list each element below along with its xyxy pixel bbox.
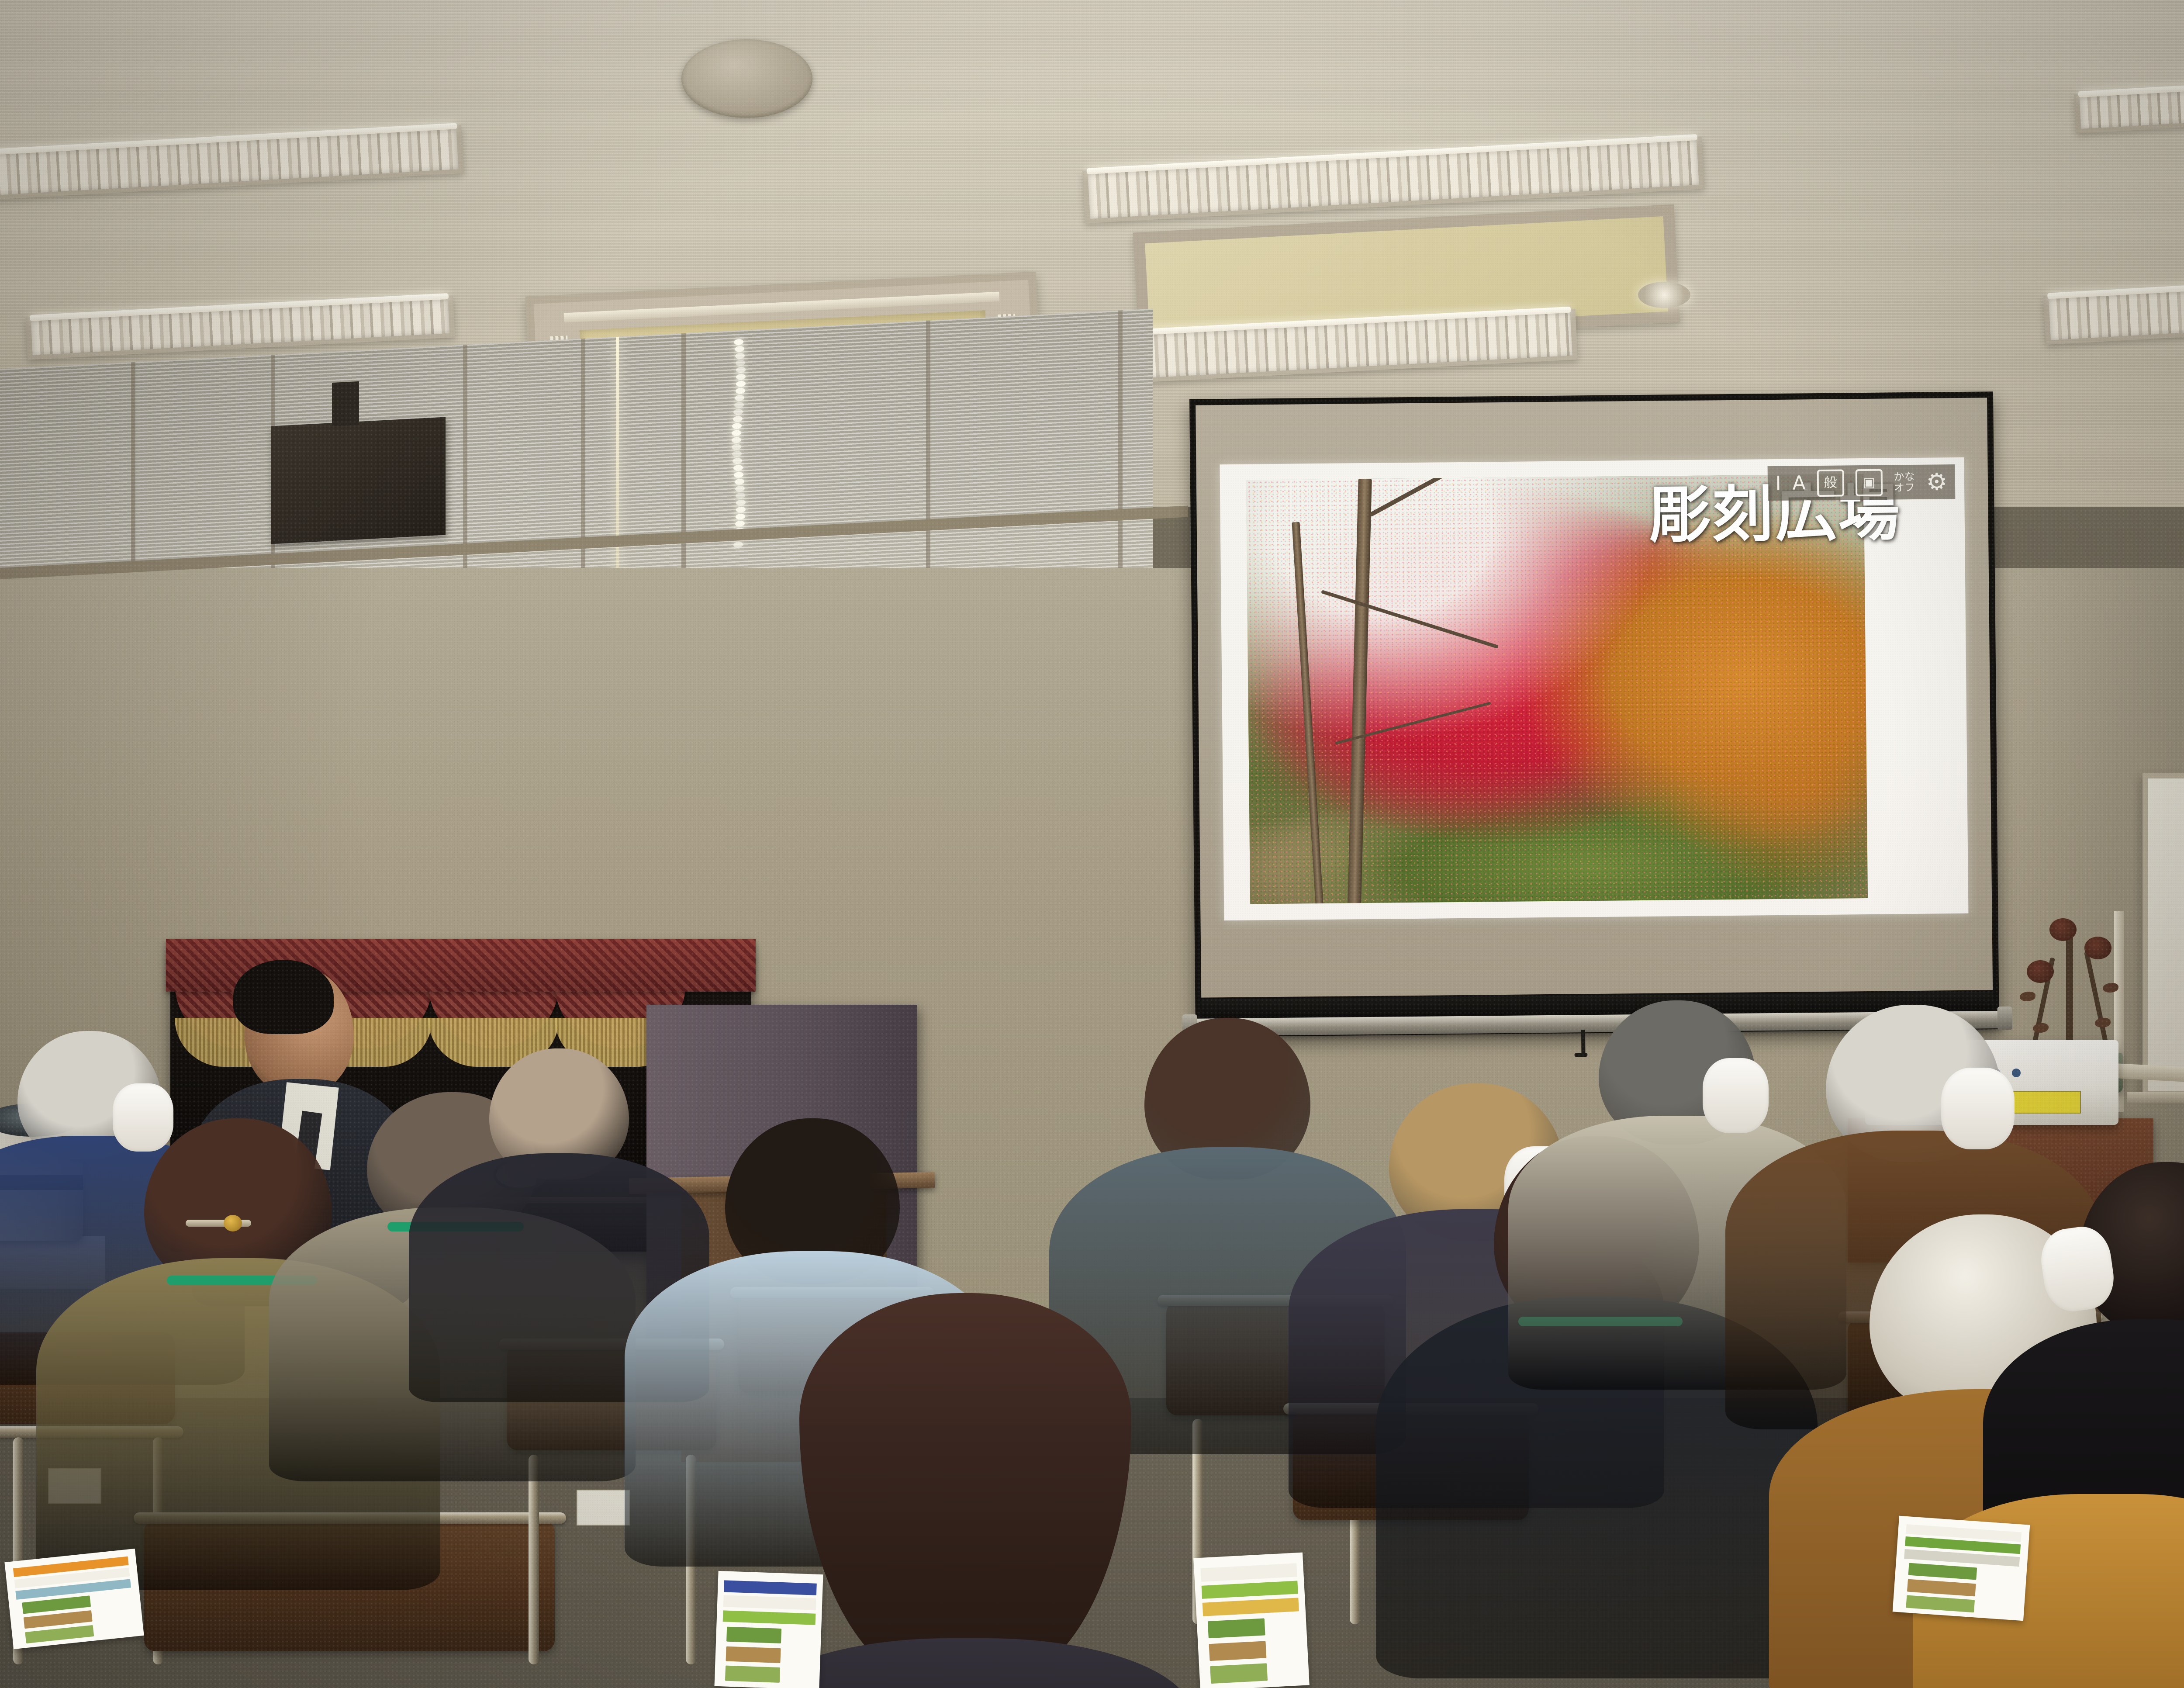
kana-toggle-line2: オフ [1894,481,1915,494]
screen-pull-hook[interactable] [1581,1030,1586,1057]
window-light-leak [616,337,619,595]
lecture-hall-photo: 彫刻広場 I A 般 ▣ かな オフ ⚙ [0,0,2184,1688]
whiteboard-tray [2127,1092,2184,1103]
pamphlet-right[interactable] [1193,1553,1310,1688]
plant-arrangement [2009,909,2136,1057]
input-mode-alphanumeric-icon[interactable]: A [1792,472,1806,495]
pamphlet-thumbnail [25,1625,94,1643]
pamphlet-thumbnail [1210,1664,1268,1684]
pamphlet-thumbnail [726,1626,781,1643]
kana-toggle-icon[interactable]: かな オフ [1894,471,1914,494]
screen-surface: 彫刻広場 I A 般 ▣ かな オフ ⚙ [1196,398,1993,997]
pamphlet-thumbnail [1907,1579,1976,1596]
hair-barrette [186,1220,251,1227]
whiteboard [2143,773,2184,1097]
face-mask [1941,1068,2015,1149]
pamphlet-thumbnail [1908,1563,1977,1580]
pamphlet-color-band [723,1610,816,1625]
pamphlet-color-band [1202,1581,1298,1599]
pamphlet-far-right[interactable] [1893,1516,2030,1621]
pamphlet-thumbnail [725,1666,780,1683]
pamphlet-color-band [724,1580,816,1595]
pamphlet-thumbnail [726,1646,781,1663]
pamphlet-color-band [1200,1563,1297,1582]
pamphlet-thumbnail [1906,1595,1975,1612]
face-mask [1703,1058,1769,1133]
ceiling-downlight-icon [1638,282,1690,308]
ime-mode-icon[interactable]: I [1775,472,1781,495]
ceiling-speaker-icon [681,39,812,118]
wall-speaker-icon [271,417,446,544]
kana-toggle-line1: かな [1894,470,1914,483]
pamphlet-thumbnail [1209,1641,1267,1661]
ime-pad-icon[interactable]: ▣ [1855,469,1883,496]
window-light-dots [734,339,745,558]
pamphlet-color-band [723,1595,816,1610]
pamphlet-center[interactable] [714,1571,823,1688]
pamphlet-thumbnail [1208,1618,1265,1638]
projected-slide: 彫刻広場 I A 般 ▣ かな オフ ⚙ [1220,457,1968,920]
pamphlet-left-seat[interactable] [4,1549,144,1649]
projection-screen: 彫刻広場 I A 般 ▣ かな オフ ⚙ [1189,391,1999,1037]
pamphlet-color-band [1203,1598,1299,1616]
kanji-conversion-icon[interactable]: 般 [1817,469,1844,497]
gear-icon[interactable]: ⚙ [1926,468,1947,496]
ime-language-bar[interactable]: I A 般 ▣ かな オフ ⚙ [1767,464,1955,501]
face-mask [113,1083,173,1152]
chair-tag [577,1490,630,1525]
